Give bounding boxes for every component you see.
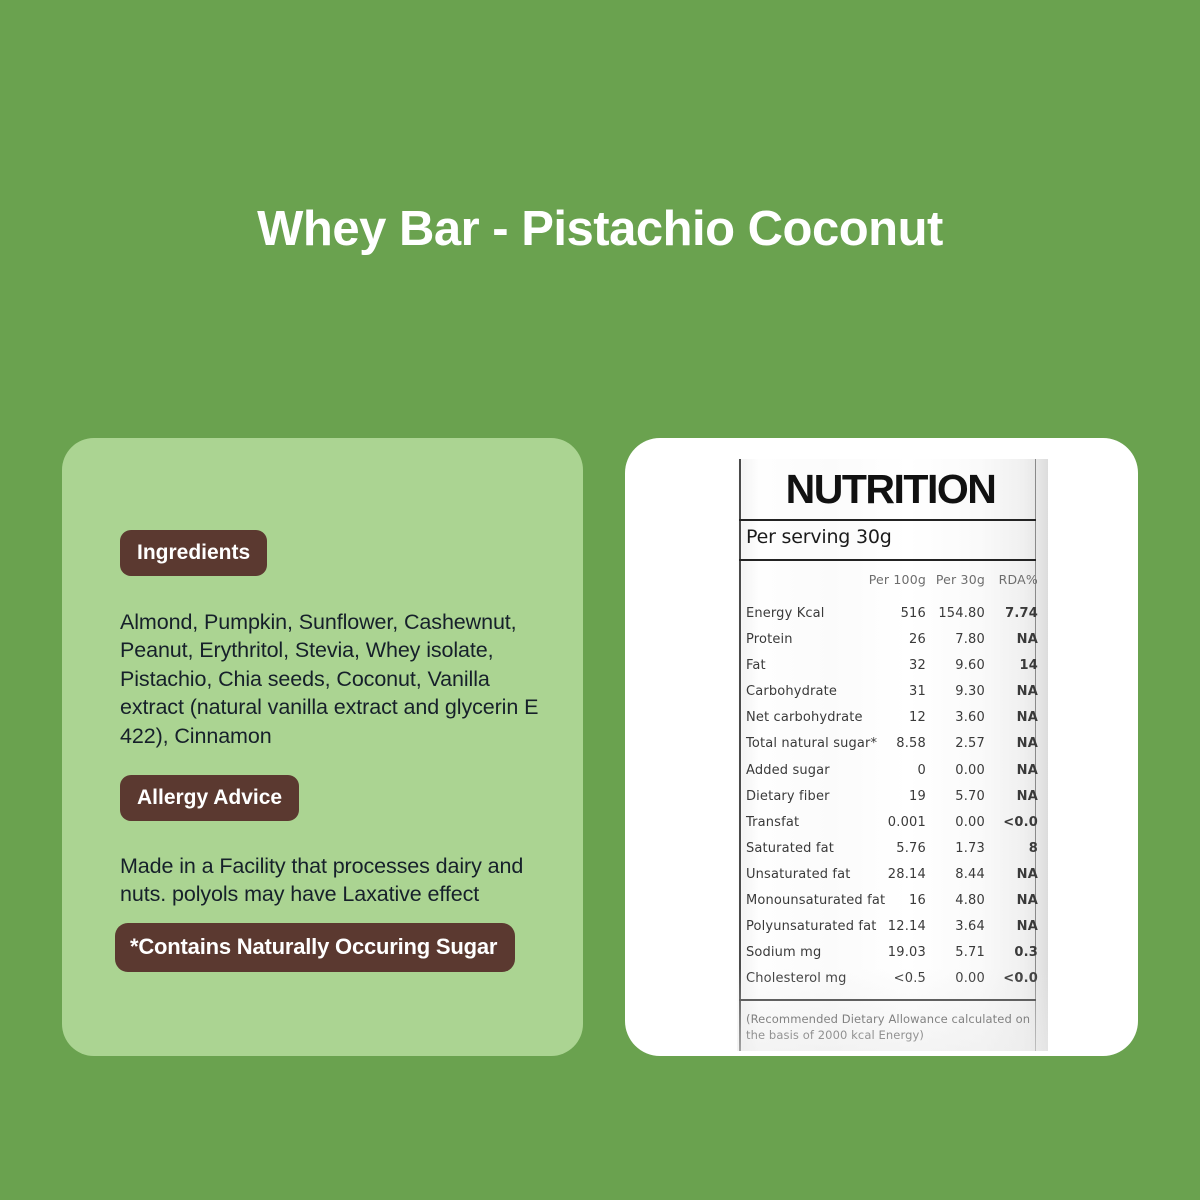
nutrient-per-30g: 0.00 bbox=[955, 763, 985, 778]
nutrition-row: Carbohydrate319.30NA bbox=[737, 684, 1048, 710]
nutrition-row: Energy Kcal516154.807.74 bbox=[737, 606, 1048, 632]
nutrient-rda: 8 bbox=[1029, 841, 1038, 856]
nutrient-per-100g: 19.03 bbox=[888, 945, 926, 960]
nutrient-rda: NA bbox=[1017, 632, 1038, 647]
nutrient-name: Transfat bbox=[746, 815, 799, 830]
nutrient-rda: NA bbox=[1017, 684, 1038, 699]
ingredients-info-card: Ingredients Almond, Pumpkin, Sunflower, … bbox=[62, 438, 583, 1056]
nutrient-per-100g: 12.14 bbox=[888, 919, 926, 934]
per-serving-text: Per serving 30g bbox=[746, 526, 892, 548]
nutrient-rda: 7.74 bbox=[1005, 606, 1038, 621]
nutrient-per-30g: 7.80 bbox=[955, 632, 985, 647]
page-title: Whey Bar - Pistachio Coconut bbox=[0, 203, 1200, 257]
nutrient-per-30g: 5.71 bbox=[955, 945, 985, 960]
nutrient-per-30g: 0.00 bbox=[955, 815, 985, 830]
nutrition-facts-panel: NUTRITION Per serving 30g Per 100g Per 3… bbox=[737, 459, 1048, 1051]
nutrient-per-30g: 5.70 bbox=[955, 789, 985, 804]
nutrient-rda: <0.0 bbox=[1003, 815, 1038, 830]
nutrient-rda: NA bbox=[1017, 736, 1038, 751]
nutrient-per-30g: 8.44 bbox=[955, 867, 985, 882]
nutrition-row: Fat329.6014 bbox=[737, 658, 1048, 684]
nutrition-row: Sodium mg19.035.710.3 bbox=[737, 945, 1048, 971]
nutrient-per-100g: <0.5 bbox=[894, 971, 926, 986]
nutrient-per-100g: 8.58 bbox=[896, 736, 926, 751]
nutrient-per-100g: 12 bbox=[909, 710, 926, 725]
nutrient-per-30g: 0.00 bbox=[955, 971, 985, 986]
nutrient-rda: NA bbox=[1017, 893, 1038, 908]
nutrient-name: Energy Kcal bbox=[746, 606, 825, 621]
nutrition-row: Cholesterol mg<0.50.00<0.0 bbox=[737, 971, 1048, 997]
nutrition-heading: NUTRITION bbox=[747, 469, 1034, 510]
nutrient-rda: NA bbox=[1017, 710, 1038, 725]
nutrient-rda: NA bbox=[1017, 763, 1038, 778]
natural-sugar-badge: *Contains Naturally Occuring Sugar bbox=[115, 923, 515, 972]
nutrient-per-100g: 19 bbox=[909, 789, 926, 804]
nutrient-rda: 14 bbox=[1020, 658, 1039, 673]
nutrient-name: Dietary fiber bbox=[746, 789, 830, 804]
nutrient-rda: NA bbox=[1017, 867, 1038, 882]
nutrition-label-card: NUTRITION Per serving 30g Per 100g Per 3… bbox=[625, 438, 1138, 1056]
nutrient-per-30g: 154.80 bbox=[938, 606, 985, 621]
nutrition-row: Total natural sugar*8.582.57NA bbox=[737, 736, 1048, 762]
nutrition-row: Saturated fat5.761.738 bbox=[737, 841, 1048, 867]
nutrient-per-30g: 3.60 bbox=[955, 710, 985, 725]
nutrient-name: Fat bbox=[746, 658, 766, 673]
nutrition-row: Added sugar00.00NA bbox=[737, 763, 1048, 789]
nutrition-column-headers: Per 100g Per 30g RDA% bbox=[737, 572, 1048, 588]
nutrient-per-100g: 16 bbox=[909, 893, 926, 908]
nutrition-row: Unsaturated fat28.148.44NA bbox=[737, 867, 1048, 893]
nutrient-per-100g: 5.76 bbox=[896, 841, 926, 856]
nutrient-per-30g: 1.73 bbox=[955, 841, 985, 856]
nutrient-per-100g: 26 bbox=[909, 632, 926, 647]
nutrient-name: Cholesterol mg bbox=[746, 971, 847, 986]
nutrient-rda: NA bbox=[1017, 789, 1038, 804]
divider-under-serving bbox=[739, 559, 1036, 561]
nutrient-per-100g: 0.001 bbox=[888, 815, 926, 830]
nutrient-per-100g: 32 bbox=[909, 658, 926, 673]
nutrient-rda: 0.3 bbox=[1014, 945, 1038, 960]
nutrient-per-30g: 3.64 bbox=[955, 919, 985, 934]
nutrient-name: Total natural sugar* bbox=[746, 736, 877, 751]
column-header-per-30g: Per 30g bbox=[936, 572, 985, 587]
nutrition-row: Dietary fiber195.70NA bbox=[737, 789, 1048, 815]
nutrient-rda: <0.0 bbox=[1003, 971, 1038, 986]
nutrient-name: Carbohydrate bbox=[746, 684, 837, 699]
nutrition-row: Monounsaturated fat164.80NA bbox=[737, 893, 1048, 919]
nutrition-rows: Energy Kcal516154.807.74Protein267.80NAF… bbox=[737, 606, 1048, 997]
nutrient-name: Protein bbox=[746, 632, 793, 647]
divider-under-heading bbox=[739, 519, 1036, 521]
nutrient-per-100g: 31 bbox=[909, 684, 926, 699]
nutrient-per-100g: 28.14 bbox=[888, 867, 926, 882]
nutrition-row: Polyunsaturated fat12.143.64NA bbox=[737, 919, 1048, 945]
nutrient-name: Saturated fat bbox=[746, 841, 834, 856]
rda-footnote: (Recommended Dietary Allowance calculate… bbox=[746, 1012, 1032, 1043]
nutrition-row: Protein267.80NA bbox=[737, 632, 1048, 658]
nutrient-name: Sodium mg bbox=[746, 945, 821, 960]
nutrient-name: Polyunsaturated fat bbox=[746, 919, 876, 934]
nutrient-name: Net carbohydrate bbox=[746, 710, 863, 725]
nutrition-row: Net carbohydrate123.60NA bbox=[737, 710, 1048, 736]
nutrient-per-30g: 9.60 bbox=[955, 658, 985, 673]
nutrient-name: Monounsaturated fat bbox=[746, 893, 885, 908]
nutrient-per-100g: 516 bbox=[901, 606, 926, 621]
allergy-advice-badge: Allergy Advice bbox=[120, 775, 299, 821]
nutrient-per-30g: 4.80 bbox=[955, 893, 985, 908]
nutrient-per-100g: 0 bbox=[918, 763, 926, 778]
column-header-rda: RDA% bbox=[999, 572, 1038, 587]
column-header-per-100g: Per 100g bbox=[869, 572, 926, 587]
ingredients-badge: Ingredients bbox=[120, 530, 267, 576]
nutrient-name: Added sugar bbox=[746, 763, 830, 778]
nutrient-per-30g: 2.57 bbox=[955, 736, 985, 751]
nutrient-per-30g: 9.30 bbox=[955, 684, 985, 699]
allergy-advice-text: Made in a Facility that processes dairy … bbox=[120, 852, 572, 909]
ingredients-text: Almond, Pumpkin, Sunflower, Cashewnut, P… bbox=[120, 608, 556, 751]
nutrient-rda: NA bbox=[1017, 919, 1038, 934]
nutrition-row: Transfat0.0010.00<0.0 bbox=[737, 815, 1048, 841]
nutrient-name: Unsaturated fat bbox=[746, 867, 851, 882]
divider-above-footnote bbox=[739, 999, 1036, 1001]
